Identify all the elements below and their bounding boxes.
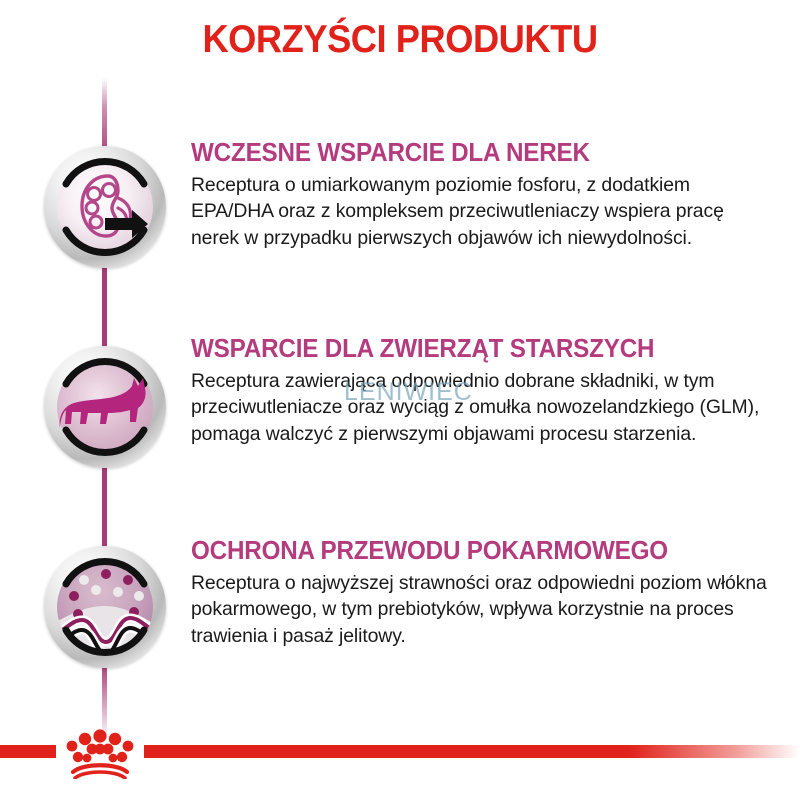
digestive-tract-icon <box>44 546 166 668</box>
royal-canin-crown-logo <box>56 727 144 779</box>
benefit-item-3: OCHRONA PRZEWODU POKARMOWEGO Receptura o… <box>191 538 777 650</box>
connector-line-between-1-2 <box>102 262 107 347</box>
page-title: KORZYŚCI PRODUKTU <box>28 18 772 62</box>
benefit-item-1: WCZESNE WSPARCIE DLA NEREK Receptura o u… <box>191 140 777 252</box>
cat-silhouette-icon <box>44 346 166 468</box>
footer-bar-right <box>144 745 800 758</box>
benefit-body-3: Receptura o najwyższej strawności oraz o… <box>191 570 777 651</box>
benefit-body-1: Receptura o umiarkowanym poziomie fosfor… <box>191 172 777 253</box>
kidney-icon <box>44 146 166 268</box>
footer-bar-left <box>0 745 56 758</box>
benefit-heading-1: WCZESNE WSPARCIE DLA NEREK <box>191 140 748 168</box>
benefit-body-2: Receptura zawierająca odpowiednio dobran… <box>191 368 777 449</box>
connector-line-between-2-3 <box>102 462 107 547</box>
benefit-heading-2: WSPARCIE DLA ZWIERZĄT STARSZYCH <box>191 336 748 364</box>
benefit-heading-3: OCHRONA PRZEWODU POKARMOWEGO <box>191 538 748 566</box>
product-benefits-page: KORZYŚCI PRODUKTU <box>0 0 800 800</box>
benefit-item-2: WSPARCIE DLA ZWIERZĄT STARSZYCH Receptur… <box>191 336 777 448</box>
